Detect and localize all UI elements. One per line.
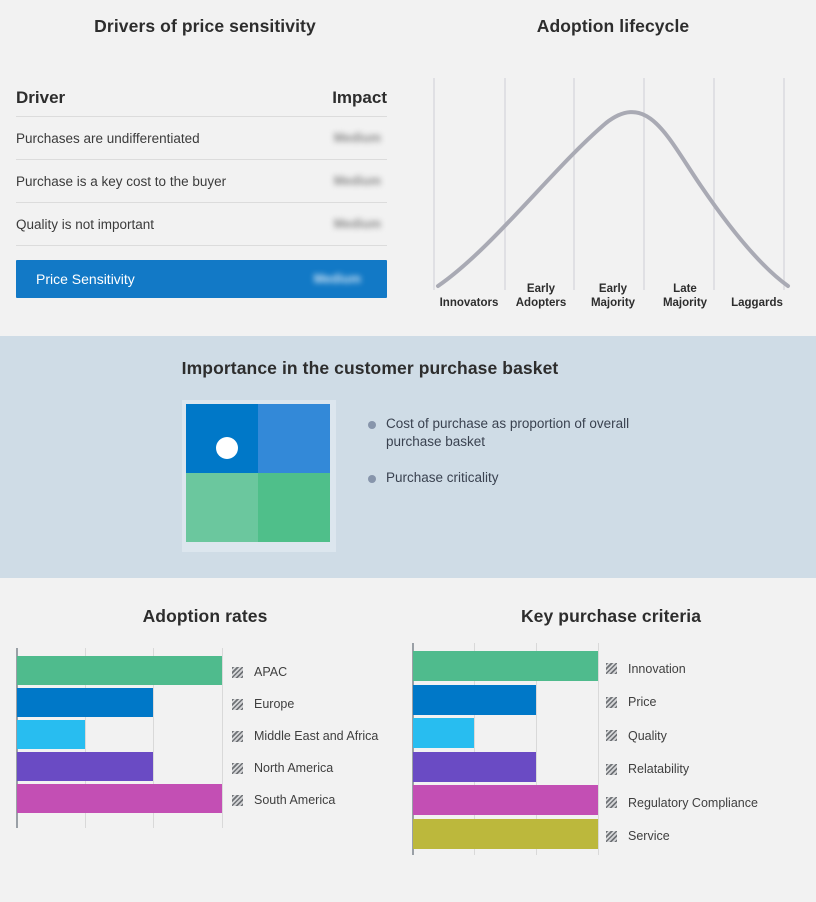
stage-early-adopters: Early Adopters — [505, 272, 577, 310]
quadrant-matrix-grid — [186, 404, 330, 542]
summary-label: Price Sensitivity — [36, 271, 135, 287]
legend-label: Europe — [254, 697, 294, 711]
stage-line2: Innovators — [440, 297, 499, 311]
stage-early-majority: Early Majority — [577, 272, 649, 310]
bell-curve-svg — [433, 78, 793, 290]
impact-value: Medium — [334, 217, 387, 231]
bullet-icon — [368, 421, 376, 429]
hatch-swatch-icon — [606, 831, 617, 842]
driver-label: Purchases are undifferentiated — [16, 131, 200, 146]
bar-europe[interactable] — [17, 688, 153, 717]
legend-label: Quality — [628, 729, 667, 743]
drivers-panel: Drivers of price sensitivity Driver Impa… — [0, 0, 410, 336]
legend-label: Innovation — [628, 662, 686, 676]
hatch-swatch-icon — [232, 763, 243, 774]
lifecycle-gridlines — [434, 78, 784, 290]
driver-label: Quality is not important — [16, 217, 154, 232]
legend-item[interactable]: Regulatory Compliance — [606, 786, 758, 820]
legend-item[interactable]: Relatability — [606, 753, 758, 787]
stage-late-majority: Late Majority — [649, 272, 721, 310]
legend-item[interactable]: Price — [606, 686, 758, 720]
dashboard-page: Drivers of price sensitivity Driver Impa… — [0, 0, 816, 902]
legend-label: South America — [254, 793, 335, 807]
bar-relatability[interactable] — [413, 752, 536, 782]
bell-curve-path — [438, 112, 788, 286]
stage-line1: Late — [673, 283, 697, 297]
drivers-table-header: Driver Impact — [16, 88, 387, 117]
stage-line2: Majority — [663, 297, 707, 311]
bar-middle-east-and-africa[interactable] — [17, 720, 85, 749]
legend-item[interactable]: Innovation — [606, 652, 758, 686]
key-purchase-criteria-plot — [412, 643, 598, 855]
legend-item[interactable]: APAC — [232, 656, 378, 688]
bar-apac[interactable] — [17, 656, 222, 685]
stage-line2: Majority — [591, 297, 635, 311]
bar-north-america[interactable] — [17, 752, 153, 781]
bullet-icon — [368, 475, 376, 483]
legend-item[interactable]: South America — [232, 784, 378, 816]
purchase-basket-legend: Cost of purchase as proportion of overal… — [368, 415, 668, 505]
key-purchase-criteria-legend: InnovationPriceQualityRelatabilityRegula… — [606, 652, 758, 853]
hatch-swatch-icon — [232, 699, 243, 710]
hatch-swatch-icon — [606, 764, 617, 775]
adoption-rates-title: Adoption rates — [0, 606, 410, 627]
quadrant-top-right[interactable] — [258, 404, 330, 473]
hatch-swatch-icon — [232, 731, 243, 742]
legend-item[interactable]: Middle East and Africa — [232, 720, 378, 752]
stage-line2: Adopters — [516, 297, 566, 311]
adoption-rates-plot — [16, 648, 222, 828]
table-row[interactable]: Purchase is a key cost to the buyer Medi… — [16, 160, 387, 203]
legend-item[interactable]: North America — [232, 752, 378, 784]
hatch-swatch-icon — [232, 795, 243, 806]
impact-value: Medium — [334, 174, 387, 188]
lifecycle-stage-labels: Innovators Early Adopters Early Majority… — [433, 272, 793, 312]
legend-label: APAC — [254, 665, 287, 679]
quadrant-bottom-left[interactable] — [186, 473, 258, 542]
legend-item[interactable]: Purchase criticality — [368, 469, 668, 487]
driver-label: Purchase is a key cost to the buyer — [16, 174, 226, 189]
stage-laggards: Laggards — [721, 272, 793, 310]
hatch-swatch-icon — [606, 730, 617, 741]
stage-line1: Early — [527, 283, 555, 297]
adoption-lifecycle-title: Adoption lifecycle — [410, 16, 816, 37]
bar-quality[interactable] — [413, 718, 474, 748]
legend-label: Relatability — [628, 762, 689, 776]
hatch-swatch-icon — [232, 667, 243, 678]
legend-label: Cost of purchase as proportion of overal… — [386, 415, 668, 451]
table-row[interactable]: Quality is not important Medium — [16, 203, 387, 246]
legend-label: Service — [628, 829, 670, 843]
legend-item[interactable]: Service — [606, 820, 758, 854]
gridline — [222, 648, 223, 828]
key-purchase-criteria-panel: Key purchase criteria InnovationPriceQua… — [406, 578, 816, 902]
bar-regulatory-compliance[interactable] — [413, 785, 598, 815]
legend-label: Regulatory Compliance — [628, 796, 758, 810]
price-sensitivity-summary-row[interactable]: Price Sensitivity Medium — [16, 260, 387, 298]
hatch-swatch-icon — [606, 797, 617, 808]
legend-label: Middle East and Africa — [254, 729, 378, 743]
bar-price[interactable] — [413, 685, 536, 715]
legend-item[interactable]: Cost of purchase as proportion of overal… — [368, 415, 668, 451]
stage-line1: Early — [599, 283, 627, 297]
gridline — [598, 643, 599, 855]
drivers-panel-title: Drivers of price sensitivity — [0, 16, 410, 37]
stage-innovators: Innovators — [433, 272, 505, 310]
key-purchase-criteria-title: Key purchase criteria — [406, 606, 816, 627]
hatch-swatch-icon — [606, 663, 617, 674]
quadrant-matrix[interactable] — [182, 400, 336, 552]
bar-service[interactable] — [413, 819, 598, 849]
legend-item[interactable]: Quality — [606, 719, 758, 753]
summary-impact-value: Medium — [314, 272, 367, 286]
adoption-rates-legend: APACEuropeMiddle East and AfricaNorth Am… — [232, 656, 378, 816]
hatch-swatch-icon — [606, 697, 617, 708]
column-header-driver: Driver — [16, 88, 65, 108]
legend-label: Price — [628, 695, 656, 709]
purchase-basket-title: Importance in the customer purchase bask… — [0, 358, 740, 379]
table-row[interactable]: Purchases are undifferentiated Medium — [16, 117, 387, 160]
impact-value: Medium — [334, 131, 387, 145]
adoption-lifecycle-panel: Adoption lifecycle Innovators — [410, 0, 816, 336]
stage-line2: Laggards — [731, 297, 783, 311]
drivers-table: Driver Impact Purchases are undifferenti… — [16, 88, 387, 298]
column-header-impact: Impact — [332, 88, 387, 108]
legend-label: North America — [254, 761, 333, 775]
bar-south-america[interactable] — [17, 784, 222, 813]
quadrant-bottom-right[interactable] — [258, 473, 330, 542]
legend-label: Purchase criticality — [386, 469, 499, 487]
bar-innovation[interactable] — [413, 651, 598, 681]
adoption-lifecycle-plot — [433, 78, 793, 290]
legend-item[interactable]: Europe — [232, 688, 378, 720]
adoption-rates-panel: Adoption rates APACEuropeMiddle East and… — [0, 578, 410, 902]
position-marker-dot — [216, 437, 238, 459]
